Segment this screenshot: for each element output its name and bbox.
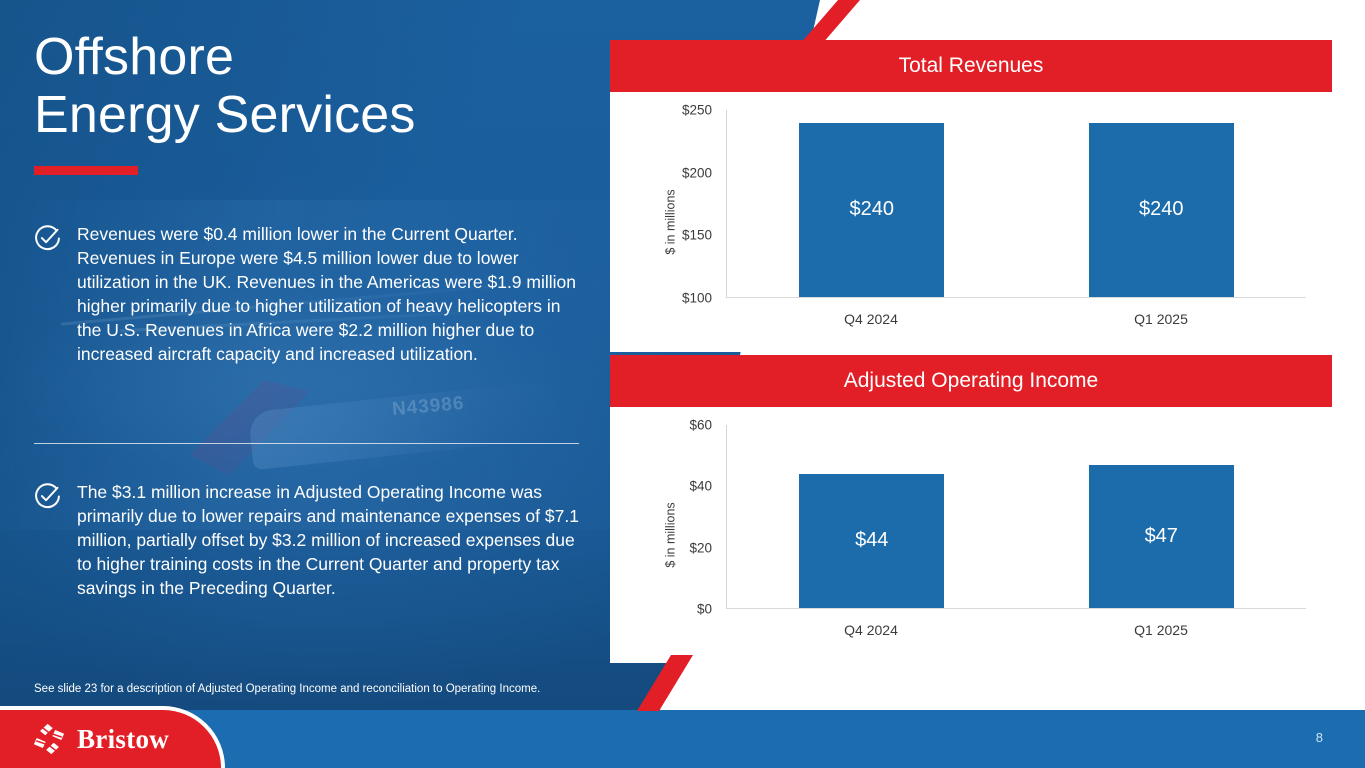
bullet-item-adjusted-operating-income: The $3.1 million increase in Adjusted Op… bbox=[34, 480, 586, 600]
chart-card-adjusted-operating-income: Adjusted Operating Income $ in millions … bbox=[610, 355, 1332, 663]
check-circle-icon bbox=[34, 483, 61, 510]
bar-slot: $44 bbox=[799, 425, 944, 608]
page-number: 8 bbox=[1316, 730, 1323, 745]
bullet-text: Revenues were $0.4 million lower in the … bbox=[77, 222, 586, 366]
x-tick-label: Q4 2024 bbox=[799, 311, 944, 327]
page-title-line-1: Offshore bbox=[34, 28, 416, 86]
y-tick-label: $20 bbox=[689, 540, 712, 555]
chart-title-banner: Total Revenues bbox=[610, 40, 1332, 92]
bar-series: $44 $47 bbox=[727, 425, 1306, 608]
y-tick-label: $40 bbox=[689, 479, 712, 494]
bar-slot: $240 bbox=[1089, 110, 1234, 297]
y-tick-label: $250 bbox=[682, 103, 712, 118]
x-tick-label: Q1 2025 bbox=[1089, 311, 1234, 327]
y-axis-ticks: $250 $200 $150 $100 bbox=[658, 110, 720, 298]
section-divider bbox=[34, 443, 579, 444]
y-tick-label: $60 bbox=[689, 418, 712, 433]
bullet-text: The $3.1 million increase in Adjusted Op… bbox=[77, 480, 586, 600]
page-title-line-2: Energy Services bbox=[34, 86, 416, 144]
bar-q1-2025[interactable]: $240 bbox=[1089, 123, 1234, 297]
helicopter-tail-shape bbox=[190, 380, 310, 476]
bar-slot: $240 bbox=[799, 110, 944, 297]
x-axis-labels: Q4 2024 Q1 2025 bbox=[726, 306, 1306, 332]
bristow-pinwheel-icon bbox=[30, 722, 68, 756]
x-tick-label: Q1 2025 bbox=[1089, 622, 1234, 638]
chart-plot-area: $ in millions $60 $40 $20 $0 $44 $47 bbox=[610, 407, 1332, 663]
page-title: Offshore Energy Services bbox=[34, 28, 416, 175]
bar-slot: $47 bbox=[1089, 425, 1234, 608]
chart-plot-area: $ in millions $250 $200 $150 $100 $240 $… bbox=[610, 92, 1332, 352]
title-underline-rule bbox=[34, 166, 138, 175]
bar-value-label: $47 bbox=[1145, 525, 1178, 548]
bullet-item-revenues: Revenues were $0.4 million lower in the … bbox=[34, 222, 586, 366]
y-tick-label: $150 bbox=[682, 228, 712, 243]
footnote-text: See slide 23 for a description of Adjust… bbox=[34, 681, 540, 697]
plot-region: $240 $240 bbox=[726, 110, 1306, 298]
brand-logo[interactable]: Bristow bbox=[0, 706, 225, 768]
plot-region: $44 $47 bbox=[726, 425, 1306, 609]
bar-value-label: $240 bbox=[1139, 198, 1184, 221]
bar-value-label: $240 bbox=[850, 198, 895, 221]
x-tick-label: Q4 2024 bbox=[799, 622, 944, 638]
brand-wordmark: Bristow bbox=[77, 724, 169, 755]
bar-value-label: $44 bbox=[855, 529, 888, 552]
bar-q4-2024[interactable]: $240 bbox=[799, 123, 944, 297]
check-circle-icon bbox=[34, 225, 61, 252]
chart-title-banner: Adjusted Operating Income bbox=[610, 355, 1332, 407]
x-axis-labels: Q4 2024 Q1 2025 bbox=[726, 617, 1306, 643]
bar-q4-2024[interactable]: $44 bbox=[799, 474, 944, 608]
bar-series: $240 $240 bbox=[727, 110, 1306, 297]
y-tick-label: $0 bbox=[697, 602, 712, 617]
y-tick-label: $200 bbox=[682, 165, 712, 180]
chart-card-total-revenues: Total Revenues $ in millions $250 $200 $… bbox=[610, 40, 1332, 352]
bar-q1-2025[interactable]: $47 bbox=[1089, 465, 1234, 608]
helicopter-fuselage-shape bbox=[248, 378, 582, 470]
helicopter-registration-text: N43986 bbox=[391, 393, 465, 421]
y-tick-label: $100 bbox=[682, 291, 712, 306]
y-axis-ticks: $60 $40 $20 $0 bbox=[658, 425, 720, 609]
